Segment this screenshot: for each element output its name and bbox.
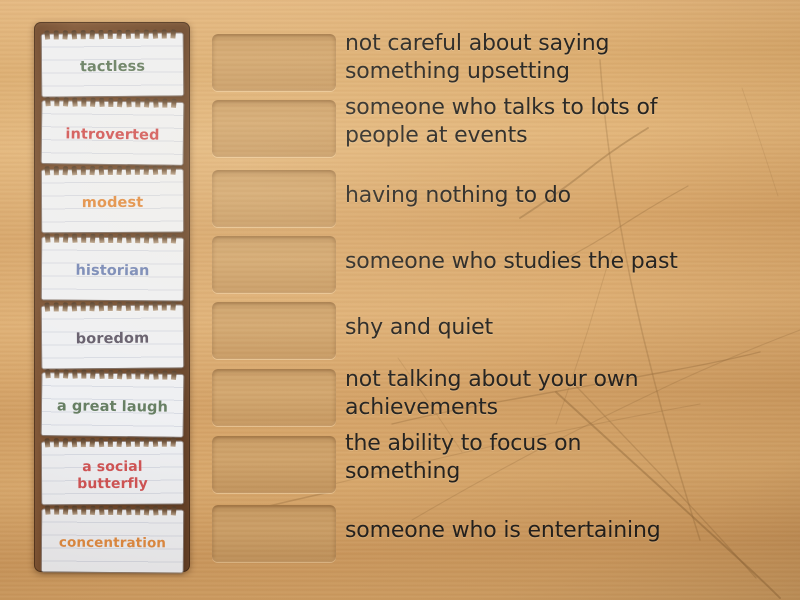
drop-slot-7[interactable] xyxy=(212,436,336,493)
word-card-label: boredom xyxy=(76,331,150,349)
drop-slot-3[interactable] xyxy=(212,170,336,227)
definition-text-2: someone who talks to lots of people at e… xyxy=(345,94,675,150)
word-card-a-social-butterfly[interactable]: a social butterfly xyxy=(42,442,183,505)
word-card-label: introverted xyxy=(65,127,159,145)
spiral-binding-icon xyxy=(45,301,180,311)
word-cards-stack: tactless introverted modest historian bo… xyxy=(34,22,190,572)
definition-text-5: shy and quiet xyxy=(345,314,493,342)
word-card-label: concentration xyxy=(59,536,166,553)
word-card-modest[interactable]: modest xyxy=(42,170,183,233)
spiral-binding-icon xyxy=(45,369,180,380)
word-card-concentration[interactable]: concentration xyxy=(42,510,183,573)
drop-slot-8[interactable] xyxy=(212,505,336,562)
spiral-binding-icon xyxy=(45,29,180,39)
drop-slot-1[interactable] xyxy=(212,34,336,91)
spiral-binding-icon xyxy=(45,234,180,244)
spiral-binding-icon xyxy=(45,438,180,448)
word-card-label: a social butterfly xyxy=(77,459,148,492)
word-card-boredom[interactable]: boredom xyxy=(42,305,184,368)
spiral-binding-icon xyxy=(45,97,180,108)
word-card-tactless[interactable]: tactless xyxy=(42,33,184,96)
definition-text-8: someone who is entertaining xyxy=(345,517,661,545)
activity-board: tactless introverted modest historian bo… xyxy=(0,0,800,600)
definition-text-4: someone who studies the past xyxy=(345,248,678,276)
spiral-binding-icon xyxy=(45,166,180,176)
word-card-label-line-2: butterfly xyxy=(77,476,148,492)
definition-text-7: the ability to focus on something xyxy=(345,430,635,486)
definition-text-6: not talking about your own achievements xyxy=(345,366,655,422)
drop-slot-6[interactable] xyxy=(212,369,336,426)
word-card-a-great-laugh[interactable]: a great laugh xyxy=(42,373,184,437)
definition-text-1: not careful about saying something upset… xyxy=(345,30,690,86)
word-card-label: a great laugh xyxy=(57,399,168,417)
drop-slot-4[interactable] xyxy=(212,236,336,293)
definition-text-3: having nothing to do xyxy=(345,182,571,210)
word-card-introverted[interactable]: introverted xyxy=(42,101,184,165)
word-card-label: modest xyxy=(82,195,144,212)
drop-slot-5[interactable] xyxy=(212,302,336,359)
spiral-binding-icon xyxy=(45,506,180,516)
word-card-label: historian xyxy=(75,263,149,281)
word-card-label-line-1: a social xyxy=(82,459,143,475)
drop-slot-2[interactable] xyxy=(212,100,336,157)
word-card-historian[interactable]: historian xyxy=(42,238,183,301)
word-card-label: tactless xyxy=(80,59,145,77)
